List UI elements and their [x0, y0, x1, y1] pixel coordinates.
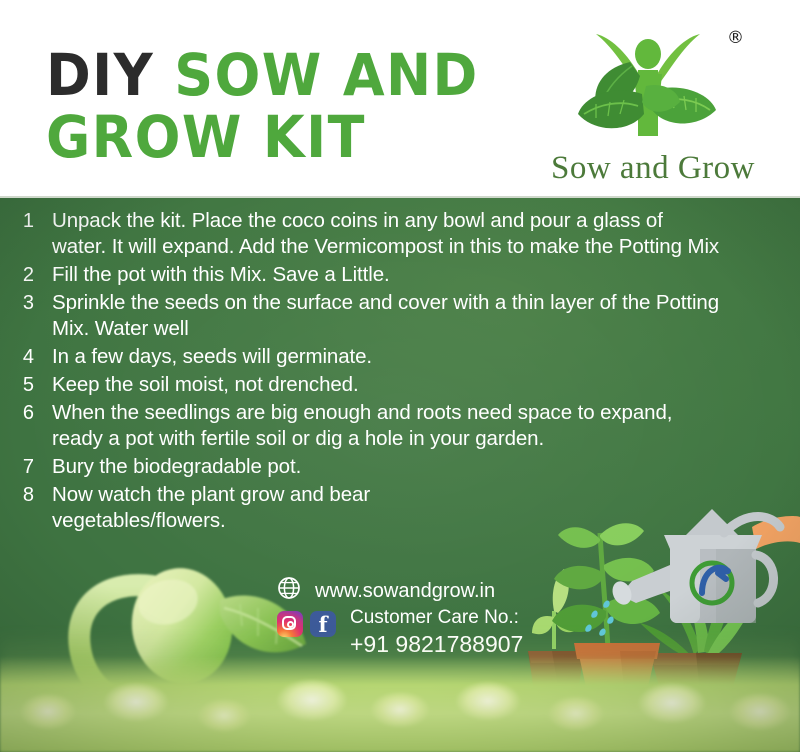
website-link[interactable]: www.sowandgrow.in	[315, 578, 495, 604]
step-text: Sprinkle the seeds on the surface and co…	[52, 290, 722, 342]
list-item: 7 Bury the biodegradable pot.	[0, 454, 770, 480]
title-grow-kit: GROW KIT	[46, 106, 483, 168]
poster-header: DIY SOW AND GROW KIT ®	[0, 0, 800, 198]
step-number: 6	[0, 400, 52, 426]
step-number: 5	[0, 372, 52, 398]
step-text: Now watch the plant grow and bear vegeta…	[52, 482, 452, 534]
list-item: 2 Fill the pot with this Mix. Save a Lit…	[0, 262, 770, 288]
website-row[interactable]: www.sowandgrow.in	[277, 576, 577, 605]
title-sow-and: SOW AND	[174, 41, 478, 109]
step-text: Keep the soil moist, not drenched.	[52, 372, 722, 398]
step-text: Unpack the kit. Place the coco coins in …	[52, 208, 722, 260]
title-diy: DIY	[46, 41, 154, 109]
list-item: 5 Keep the soil moist, not drenched.	[0, 372, 770, 398]
poster: DIY SOW AND GROW KIT ®	[0, 0, 800, 752]
poster-body: 1 Unpack the kit. Place the coco coins i…	[0, 198, 800, 752]
step-number: 8	[0, 482, 52, 508]
step-text: In a few days, seeds will germinate.	[52, 344, 722, 370]
leaf-figure-icon	[570, 24, 726, 150]
title-line-1: DIY SOW AND	[46, 44, 483, 106]
list-item: 1 Unpack the kit. Place the coco coins i…	[0, 208, 770, 260]
logo-wordmark: Sow and Grow	[548, 150, 758, 187]
list-item: 6 When the seedlings are big enough and …	[0, 400, 770, 452]
step-number: 2	[0, 262, 52, 288]
step-number: 7	[0, 454, 52, 480]
list-item: 4 In a few days, seeds will germinate.	[0, 344, 770, 370]
brand-logo: ®	[548, 24, 758, 190]
page-title: DIY SOW AND GROW KIT	[46, 44, 516, 168]
step-text: Bury the biodegradable pot.	[52, 454, 722, 480]
instruction-list: 1 Unpack the kit. Place the coco coins i…	[0, 208, 770, 536]
step-number: 4	[0, 344, 52, 370]
globe-icon	[277, 576, 301, 605]
moss-grass-strip	[0, 656, 800, 752]
step-text: Fill the pot with this Mix. Save a Littl…	[52, 262, 722, 288]
step-number: 1	[0, 208, 52, 234]
list-item: 3 Sprinkle the seeds on the surface and …	[0, 290, 770, 342]
step-number: 3	[0, 290, 52, 316]
registered-trademark-icon: ®	[727, 30, 744, 47]
customer-care-label: Customer Care No.:	[350, 605, 523, 630]
step-text: When the seedlings are big enough and ro…	[52, 400, 722, 452]
